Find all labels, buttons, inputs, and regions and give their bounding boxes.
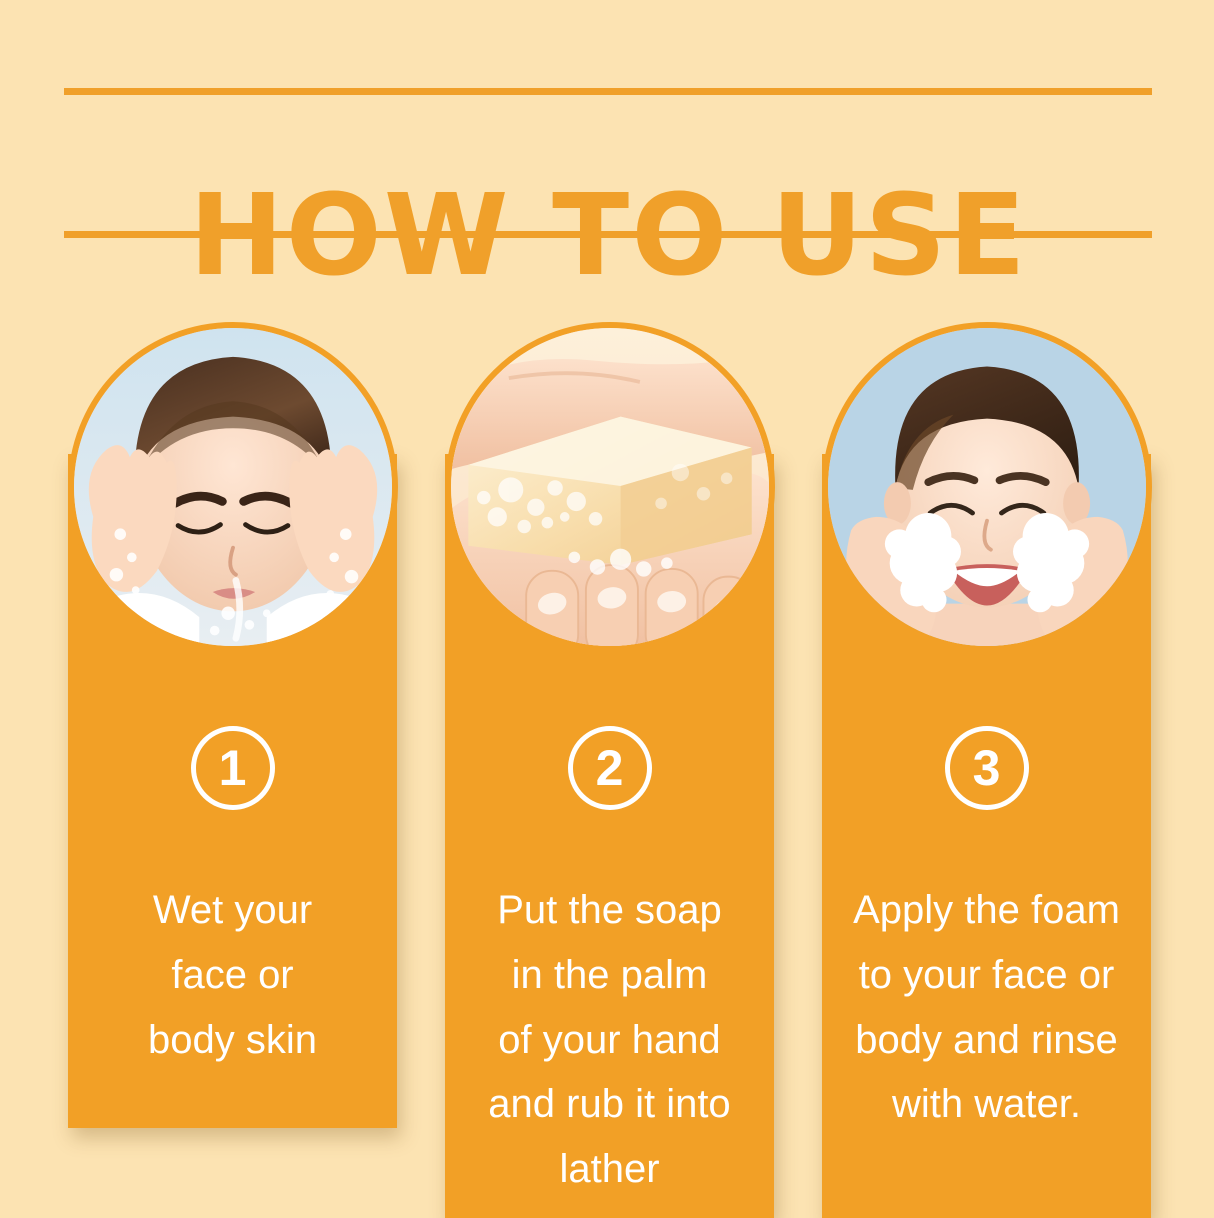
header-rule-bottom (64, 231, 1152, 238)
wet-face-illustration (74, 328, 392, 646)
step-number-badge-3: 3 (945, 726, 1029, 810)
step-photo-soap-in-hands (445, 322, 775, 652)
step-card-1: 1 Wet your face or body skin (68, 454, 397, 1128)
step-text-1: Wet your face or body skin (82, 878, 383, 1072)
step-text-3: Apply the foam to your face or body and … (836, 878, 1137, 1137)
step-photo-wet-face (68, 322, 398, 652)
step-number-badge-2: 2 (568, 726, 652, 810)
soap-in-hands-illustration (451, 328, 769, 646)
step-text-2: Put the soap in the palm of your hand an… (459, 878, 760, 1202)
page-header: HOW TO USE (64, 88, 1152, 238)
step-number-badge-1: 1 (191, 726, 275, 810)
step-photo-apply-foam (822, 322, 1152, 652)
header-rule-top (64, 88, 1152, 95)
step-card-3: 3 Apply the foam to your face or body an… (822, 454, 1151, 1218)
step-card-2: 2 Put the soap in the palm of your hand … (445, 454, 774, 1218)
steps-container: 1 Wet your face or body skin (68, 322, 1148, 1132)
apply-foam-illustration (828, 328, 1146, 646)
